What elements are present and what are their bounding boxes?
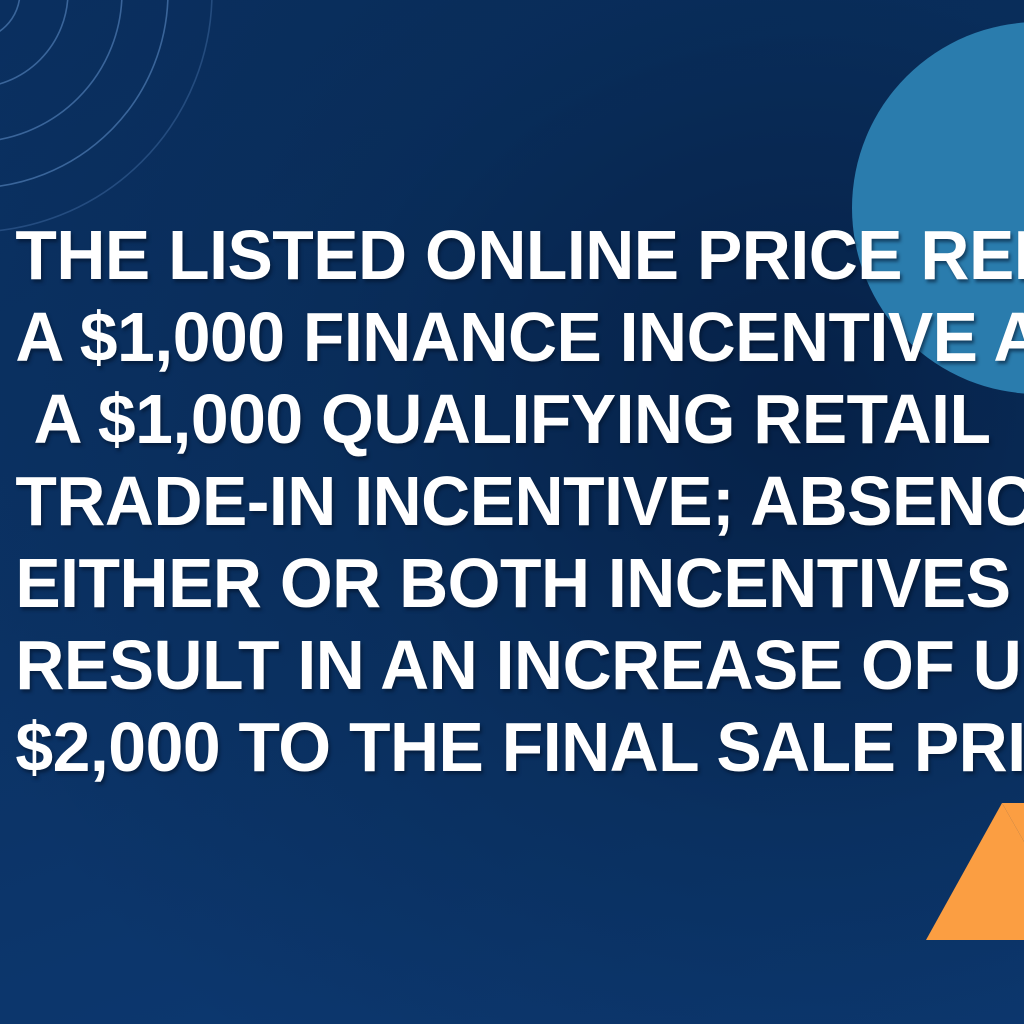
headline-line-3: A $1,000 QUALIFYING RETAIL: [15, 378, 1008, 460]
headline-line-7: $2,000 TO THE FINAL SALE PRICE.: [15, 706, 1008, 788]
headline-line-2: A $1,000 FINANCE INCENTIVE AND: [15, 296, 1008, 378]
disclaimer-headline: THE LISTED ONLINE PRICE REFLECTS A $1,00…: [15, 214, 1008, 788]
headline-line-6: RESULT IN AN INCREASE OF UP TO: [15, 624, 1008, 706]
promotional-disclaimer-graphic: THE LISTED ONLINE PRICE REFLECTS A $1,00…: [0, 0, 1024, 1024]
headline-line-1: THE LISTED ONLINE PRICE REFLECTS: [15, 214, 1008, 296]
headline-line-5: EITHER OR BOTH INCENTIVES WILL: [15, 542, 1008, 624]
headline-line-4: TRADE-IN INCENTIVE; ABSENCE OF: [15, 460, 1008, 542]
